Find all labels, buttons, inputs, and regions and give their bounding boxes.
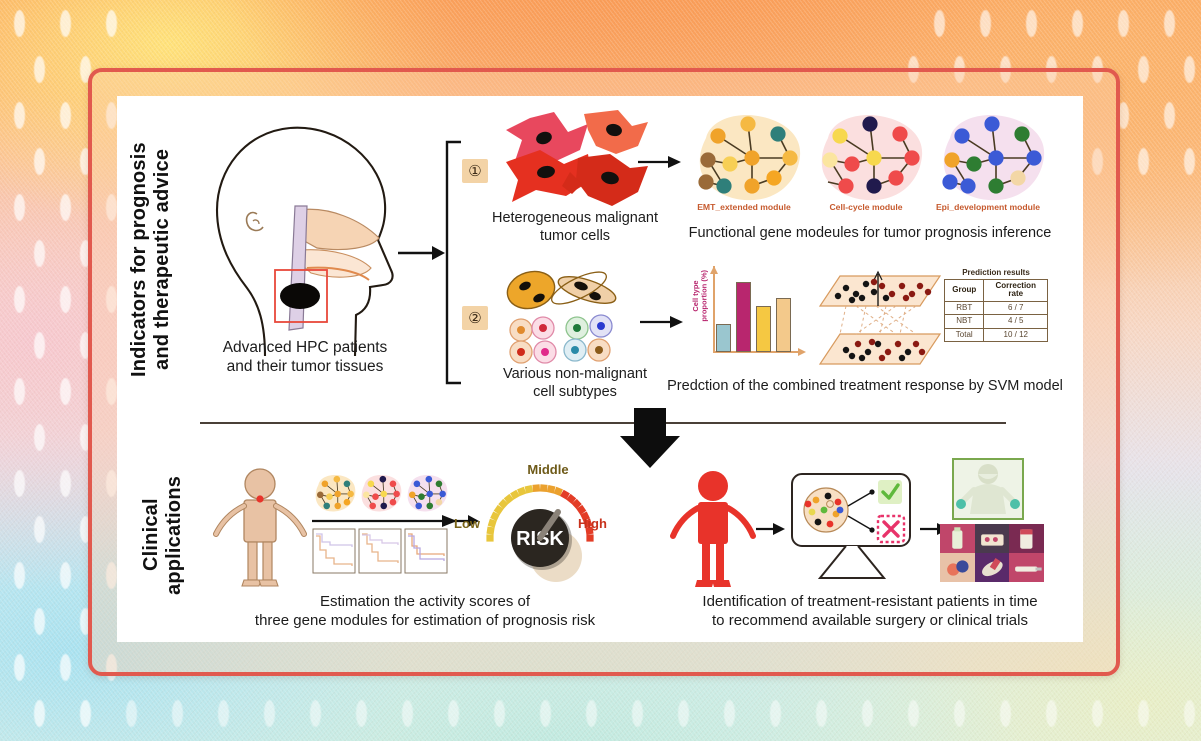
surgeon-illustration xyxy=(952,458,1024,520)
caption-bottom-left: Estimation the activity scores ofthree g… xyxy=(230,593,620,630)
treatment-tile xyxy=(1009,524,1044,553)
mini-gene-module xyxy=(312,472,358,514)
caption-branch-2: Various non-malignantcell subtypes xyxy=(468,366,682,402)
gauge-label-low: Low xyxy=(454,516,480,531)
caption-branch-1: Heterogeneous malignanttumor cells xyxy=(468,210,682,246)
treatment-icon xyxy=(940,553,975,582)
patient-figure-red xyxy=(670,470,756,590)
cell-type-proportion-barchart: Cell typeproportion (%) xyxy=(694,266,810,368)
arrow-to-monitor-icon xyxy=(756,520,786,538)
figure-canvas: Indicators for prognosisand therapeutic … xyxy=(0,0,1201,741)
arrow-to-modules-icon xyxy=(638,152,682,172)
treatment-response-monitor xyxy=(790,472,914,582)
arrow-to-km-curves-icon xyxy=(312,514,458,528)
prediction-table-title: Prediction results xyxy=(944,268,1048,277)
down-arrow-icon xyxy=(618,408,682,470)
svm-hyperplane-illustration xyxy=(816,272,944,368)
treatment-tile xyxy=(975,553,1010,582)
gene-module-network xyxy=(934,112,1052,204)
treatment-icon xyxy=(1009,524,1044,553)
caption-patient: Advanced HPC patientsand their tumor tis… xyxy=(190,338,420,376)
patient-head-illustration xyxy=(195,118,415,368)
arrow-to-svm-icon xyxy=(640,312,684,332)
arrow-head-to-branches-icon xyxy=(398,242,446,264)
treatment-options-grid xyxy=(940,524,1044,582)
km-survival-plot xyxy=(404,528,448,574)
km-survival-plot xyxy=(312,528,356,574)
prediction-table-grid: GroupCorrectionrateRBT6 / 7NBT4 / 5Total… xyxy=(944,279,1048,342)
caption-gene-modules: Functional gene modeules for tumor progn… xyxy=(660,225,1080,243)
gene-module-label: Cell-cycle module xyxy=(802,202,930,212)
treatment-tile xyxy=(975,524,1010,553)
side-label-clinical: Clinical applications xyxy=(140,440,166,630)
gene-module-labels: EMT_extended moduleCell-cycle moduleEpi_… xyxy=(680,202,1060,218)
mini-gene-modules xyxy=(312,472,446,514)
mini-gene-module xyxy=(404,472,450,514)
gene-module-label: Epi_development module xyxy=(924,202,1052,212)
mini-gene-module xyxy=(358,472,404,514)
non-malignant-cells-illustration xyxy=(495,270,635,370)
table-row: NBT4 / 5 xyxy=(945,315,1048,328)
pred-header: Group xyxy=(945,280,984,302)
caption-bottom-right: Identification of treatment-resistant pa… xyxy=(660,593,1080,630)
prediction-results-table: Prediction results GroupCorrectionrateRB… xyxy=(944,268,1048,342)
bar xyxy=(736,282,751,352)
section-divider xyxy=(200,422,1006,424)
treatment-icon xyxy=(1009,553,1044,582)
pred-header: Correctionrate xyxy=(984,280,1048,302)
patient-figure-tan xyxy=(212,468,308,590)
km-survival-plot xyxy=(358,528,402,574)
malignant-tumor-cells-illustration xyxy=(492,110,652,220)
bar xyxy=(776,298,791,352)
km-survival-plots xyxy=(312,528,446,576)
treatment-icon xyxy=(975,553,1010,582)
bar xyxy=(716,324,731,352)
treatment-tile xyxy=(1009,553,1044,582)
gauge-label-high: High xyxy=(578,516,607,531)
badge-branch-2: ② xyxy=(462,306,488,330)
gauge-label-middle: Middle xyxy=(512,462,584,477)
table-row: RBT6 / 7 xyxy=(945,301,1048,314)
gene-module-label: EMT_extended module xyxy=(680,202,808,212)
gene-module-network xyxy=(812,112,930,204)
risk-gauge: RISK Middle Low High xyxy=(470,466,620,586)
barchart-bars xyxy=(716,266,796,352)
table-row: Total10 / 12 xyxy=(945,328,1048,341)
treatment-icon xyxy=(940,524,975,553)
treatment-tile xyxy=(940,524,975,553)
treatment-icon xyxy=(975,524,1010,553)
bar xyxy=(756,306,771,352)
side-label-prognosis: Indicators for prognosisand therapeutic … xyxy=(128,112,172,407)
caption-svm: Predction of the combined treatment resp… xyxy=(655,378,1075,396)
gene-module-network xyxy=(690,112,808,204)
badge-branch-1: ① xyxy=(462,159,488,183)
treatment-tile xyxy=(940,553,975,582)
